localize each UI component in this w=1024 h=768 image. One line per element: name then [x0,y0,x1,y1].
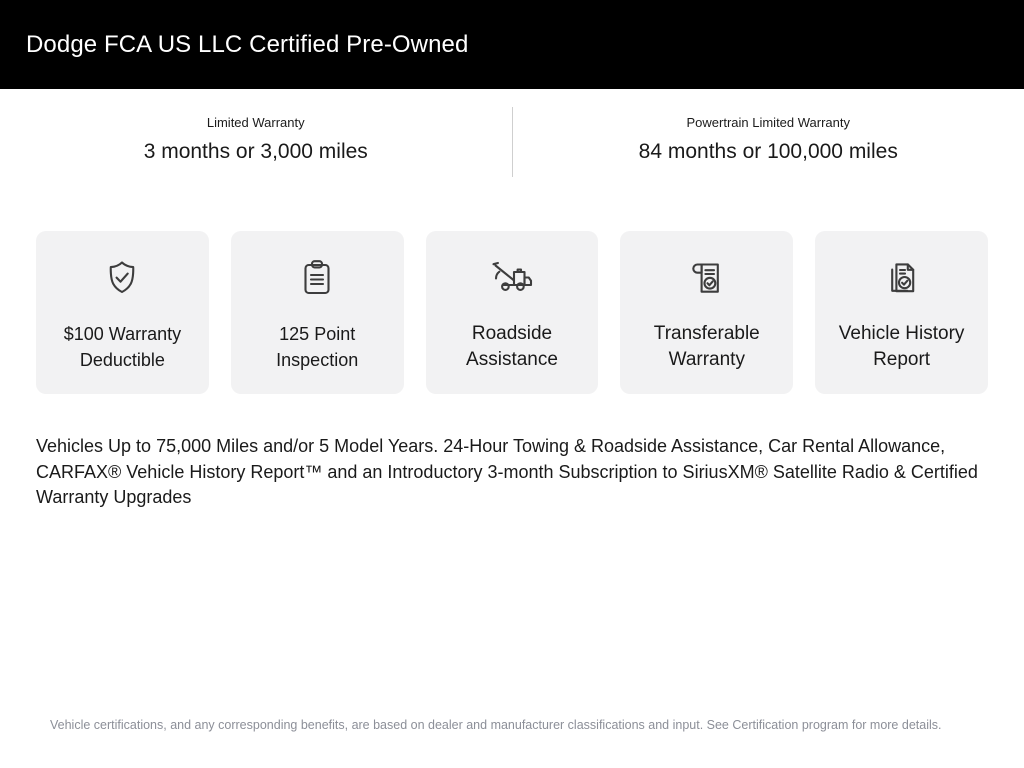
feature-card-point-inspection: 125 Point Inspection [231,231,404,394]
footer: Vehicle certifications, and any correspo… [0,717,1024,768]
powertrain-warranty-value: 84 months or 100,000 miles [639,139,898,165]
clipboard-lines-icon [295,255,339,301]
powertrain-warranty-label: Powertrain Limited Warranty [686,115,850,131]
feature-card-label: Roadside Assistance [426,321,599,373]
feature-cards: $100 Warranty Deductible 125 Point Inspe… [0,185,1024,394]
page-header: Dodge FCA US LLC Certified Pre-Owned [0,0,1024,89]
documents-check-icon [880,255,924,301]
feature-card-warranty-deductible: $100 Warranty Deductible [36,231,209,394]
certificate-check-icon [685,255,729,301]
limited-warranty-block: Limited Warranty 3 months or 3,000 miles [0,115,512,185]
feature-card-label: 125 Point Inspection [231,321,404,373]
powertrain-warranty-block: Powertrain Limited Warranty 84 months or… [513,115,1024,185]
feature-card-label: Vehicle History Report [815,321,988,373]
shield-check-icon [100,255,144,301]
feature-card-vehicle-history-report: Vehicle History Report [815,231,988,394]
page-title: Dodge FCA US LLC Certified Pre-Owned [26,31,468,59]
limited-warranty-value: 3 months or 3,000 miles [144,139,368,165]
feature-card-label: Transferable Warranty [620,321,793,373]
feature-card-transferable-warranty: Transferable Warranty [620,231,793,394]
limited-warranty-label: Limited Warranty [207,115,305,131]
program-description: Vehicles Up to 75,000 Miles and/or 5 Mod… [0,394,1024,511]
feature-card-label: $100 Warranty Deductible [36,321,209,373]
warranty-summary: Limited Warranty 3 months or 3,000 miles… [0,89,1024,185]
feature-card-roadside-assistance: Roadside Assistance [426,231,599,394]
tow-truck-icon [487,255,537,301]
disclaimer-text: Vehicle certifications, and any correspo… [50,717,974,734]
